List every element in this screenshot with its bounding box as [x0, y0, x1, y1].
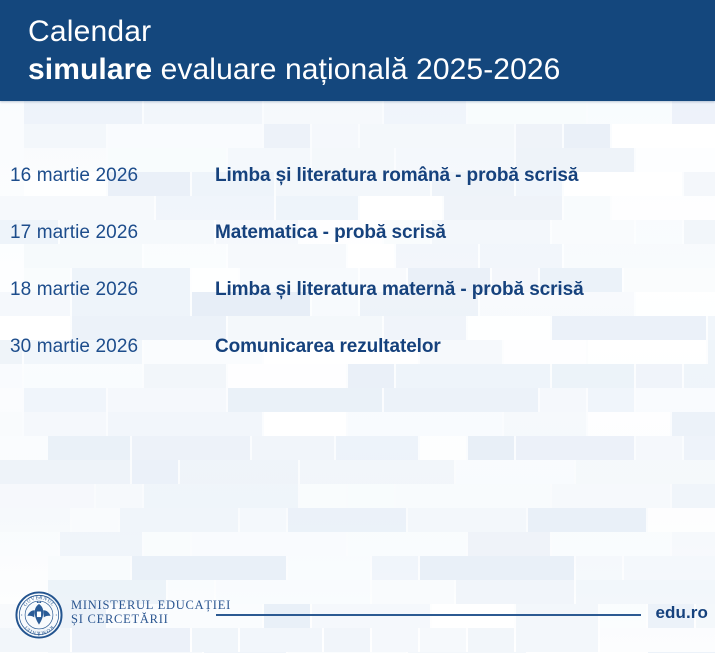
background-tile	[360, 124, 514, 148]
background-tile	[48, 556, 130, 580]
background-tile	[636, 436, 682, 460]
background-tile	[132, 556, 286, 580]
ministry-name: MINISTERUL EDUCAȚIEI ȘI CERCETĂRII	[71, 598, 231, 626]
background-tile	[648, 508, 715, 532]
schedule-row: 17 martie 2026 Matematica - probă scrisă	[0, 222, 715, 279]
background-tile	[672, 484, 715, 508]
background-tile	[348, 412, 502, 436]
background-tile	[372, 556, 418, 580]
background-tile	[144, 532, 190, 556]
background-tile	[0, 508, 70, 532]
schedule-row: 16 martie 2026 Limba și literatura român…	[0, 165, 715, 222]
background-tile	[288, 556, 370, 580]
background-tile	[144, 484, 298, 508]
background-tile	[396, 484, 550, 508]
ministry-name-line-1: MINISTERUL EDUCAȚIEI	[71, 598, 231, 612]
background-tile	[288, 508, 406, 532]
background-tile	[264, 412, 346, 436]
page-title-emphasis: simulare	[28, 53, 152, 86]
schedule-row: 18 martie 2026 Limba și literatura mater…	[0, 279, 715, 336]
header-title-block: Calendar simulare evaluare națională 202…	[28, 14, 699, 88]
background-tile	[588, 412, 670, 436]
background-tile	[468, 532, 550, 556]
background-tile	[672, 100, 715, 124]
background-tile	[552, 532, 670, 556]
background-tile	[348, 532, 466, 556]
background-tile	[312, 124, 358, 148]
background-tile	[264, 100, 382, 124]
background-tile	[300, 484, 346, 508]
ministry-name-line-2: ȘI CERCETĂRII	[71, 612, 231, 626]
background-tile	[120, 508, 238, 532]
footer-divider	[216, 614, 641, 616]
background-tile	[300, 460, 454, 484]
background-tile	[192, 532, 346, 556]
background-tile	[528, 508, 646, 532]
background-tile	[48, 436, 130, 460]
background-tile	[612, 124, 715, 148]
background-tile	[408, 508, 526, 532]
schedule-row-description: Limba și literatura maternă - probă scri…	[215, 279, 584, 301]
background-tile	[108, 124, 262, 148]
background-tile	[564, 124, 610, 148]
background-tile	[348, 484, 394, 508]
background-tile	[252, 436, 334, 460]
schedule-list: 16 martie 2026 Limba și literatura român…	[0, 165, 715, 393]
background-tile	[60, 532, 142, 556]
background-tile	[420, 436, 466, 460]
background-tile	[684, 436, 715, 460]
background-tile	[516, 124, 562, 148]
background-tile	[264, 124, 310, 148]
header-band: Calendar simulare evaluare națională 202…	[0, 0, 715, 101]
background-tile	[336, 436, 418, 460]
schedule-row-date: 16 martie 2026	[10, 165, 210, 187]
background-tile	[96, 484, 142, 508]
schedule-row: 30 martie 2026 Comunicarea rezultatelor	[0, 336, 715, 393]
background-tile	[0, 532, 58, 556]
background-tile	[576, 460, 715, 484]
background-tile	[180, 460, 298, 484]
background-tile	[132, 436, 250, 460]
page-title-line-2: simulare evaluare națională 2025-2026	[28, 51, 699, 88]
background-tile	[672, 532, 715, 556]
background-tile	[132, 460, 178, 484]
background-tile	[504, 412, 586, 436]
schedule-row-description: Comunicarea rezultatelor	[215, 336, 441, 358]
background-tile	[144, 100, 262, 124]
background-tile	[468, 100, 586, 124]
background-tile	[420, 556, 574, 580]
background-tile	[552, 484, 670, 508]
schedule-row-description: Matematica - probă scrisă	[215, 222, 446, 244]
background-tile	[108, 412, 262, 436]
background-tile	[0, 460, 130, 484]
background-tile	[240, 508, 286, 532]
page-title-remainder: evaluare națională 2025-2026	[152, 53, 560, 86]
schedule-row-date: 17 martie 2026	[10, 222, 210, 244]
background-tile	[24, 100, 142, 124]
background-tile	[672, 412, 715, 436]
background-tile	[72, 508, 118, 532]
page-title-line-1: Calendar	[28, 14, 699, 50]
background-tile	[588, 100, 670, 124]
schedule-row-date: 30 martie 2026	[10, 336, 210, 358]
background-tile	[24, 124, 106, 148]
background-tile	[624, 556, 715, 580]
footer: GUVERNUL ROMÂNIEI MINISTERUL EDUCAȚIEI Ș…	[0, 581, 715, 653]
schedule-row-description: Limba și literatura română - probă scris…	[215, 165, 578, 187]
poster-root: Calendar simulare evaluare națională 202…	[0, 0, 715, 653]
romanian-government-seal-icon: GUVERNUL ROMÂNIEI	[15, 591, 63, 639]
schedule-row-date: 18 martie 2026	[10, 279, 210, 301]
background-tile	[24, 412, 106, 436]
background-tile	[576, 556, 622, 580]
background-tile	[468, 436, 514, 460]
background-tile	[0, 412, 22, 436]
background-tile	[0, 484, 94, 508]
background-tile	[384, 100, 466, 124]
background-tile	[516, 436, 634, 460]
website-link[interactable]: edu.ro	[655, 603, 708, 623]
background-tile	[456, 460, 574, 484]
